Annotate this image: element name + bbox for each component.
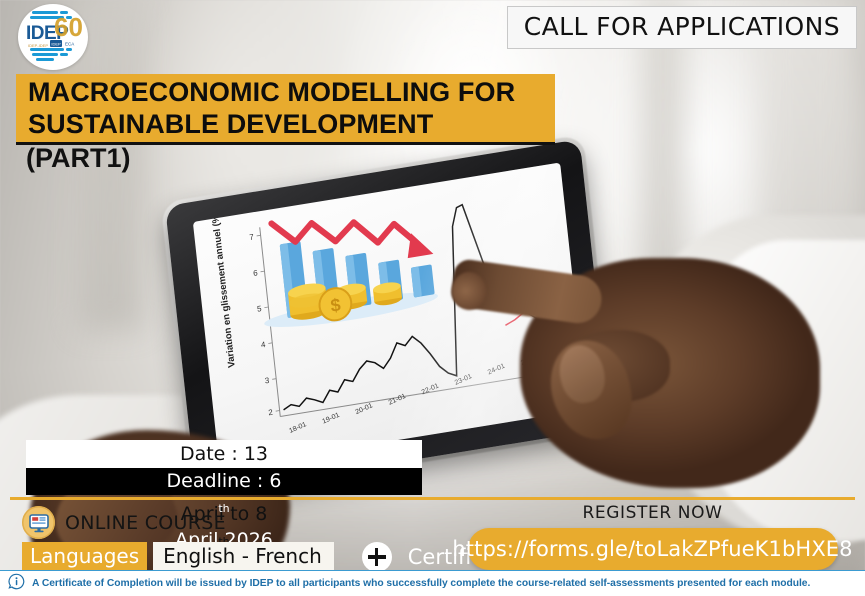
register-now-label: REGISTER NOW <box>455 503 850 523</box>
fingertip <box>452 272 486 310</box>
languages-label: Languages <box>22 542 147 572</box>
register-url: https://forms.gle/toLakZPfueK1bHXE8 <box>452 537 852 561</box>
footer-note: A Certificate of Completion will be issu… <box>32 578 810 589</box>
info-icon <box>8 573 25 595</box>
date-box: Date : 13th April to 8th May 2026 <box>26 440 422 468</box>
title-line-2: SUSTAINABLE DEVELOPMENT <box>16 108 555 140</box>
poster: 765 432 18-01 19-01 <box>0 0 865 596</box>
logo-anniversary: 60 <box>54 12 83 42</box>
languages-row: Languages English - French Certificate <box>22 542 517 572</box>
idep-logo: IDEP 60 IDEP ECA IDEP-IDEP <box>14 4 92 70</box>
svg-text:IDEP: IDEP <box>51 42 61 47</box>
footer-bar: A Certificate of Completion will be issu… <box>0 570 865 596</box>
call-for-applications-text: CALL FOR APPLICATIONS <box>524 12 840 41</box>
plus-icon <box>362 542 392 572</box>
svg-text:IDEP-IDEP: IDEP-IDEP <box>28 43 48 48</box>
title-banner: MACROECONOMIC MODELLING FOR SUSTAINABLE … <box>16 74 555 145</box>
register-link-button[interactable]: https://forms.gle/toLakZPfueK1bHXE8 <box>468 528 838 570</box>
online-course-label: ONLINE COURSE <box>65 512 226 534</box>
languages-value: English - French <box>153 542 334 572</box>
logo-artwork: IDEP 60 IDEP ECA IDEP-IDEP <box>14 4 92 70</box>
register-section: REGISTER NOW https://forms.gle/toLakZPfu… <box>455 503 850 570</box>
gold-divider <box>10 497 855 500</box>
title-part: (PART1) <box>26 143 131 174</box>
monitor-icon <box>22 506 55 539</box>
title-line-1: MACROECONOMIC MODELLING FOR <box>16 76 555 108</box>
deadline-box: Deadline : 6th April 2026 <box>26 468 422 495</box>
call-for-applications-badge: CALL FOR APPLICATIONS <box>507 6 857 49</box>
online-course-row: ONLINE COURSE <box>22 506 226 539</box>
svg-text:ECA: ECA <box>65 42 74 47</box>
